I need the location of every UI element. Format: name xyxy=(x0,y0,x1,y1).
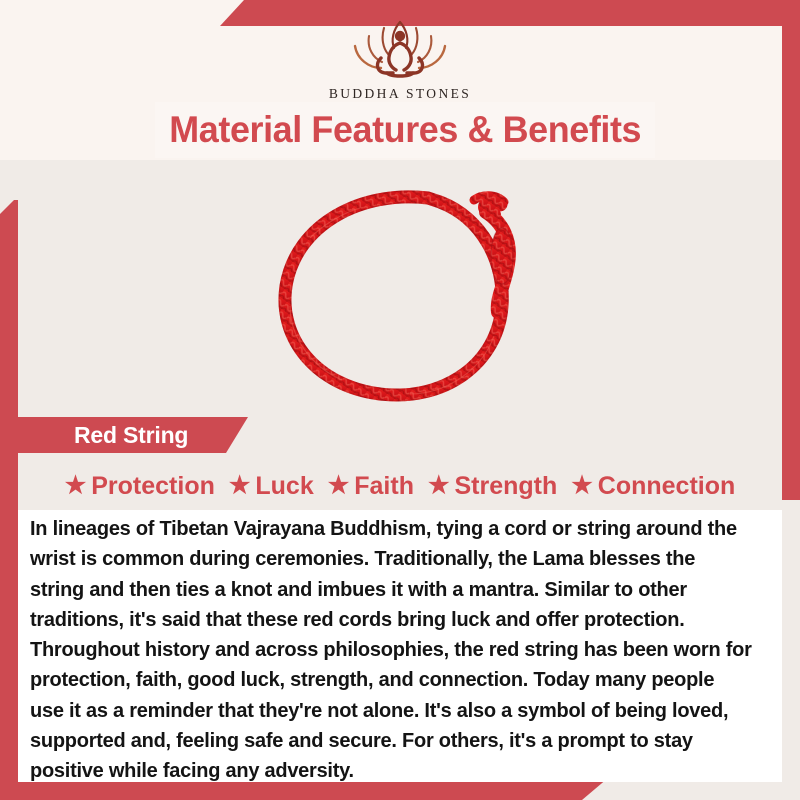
product-image-area xyxy=(18,160,782,422)
benefit-label: Strength xyxy=(454,472,557,501)
benefit-item-faith: ★ Faith xyxy=(323,472,419,501)
benefits-list: ★ Protection ★ Luck ★ Faith ★ Strength ★… xyxy=(18,466,782,506)
star-icon: ★ xyxy=(328,474,350,498)
decor-left-vertical-bar xyxy=(0,200,18,800)
description-card: In lineages of Tibetan Vajrayana Buddhis… xyxy=(18,510,782,782)
red-string-bracelet-icon xyxy=(250,166,550,416)
lotus-meditation-figure-logo-icon xyxy=(325,14,475,84)
benefit-label: Faith xyxy=(354,472,414,501)
star-icon: ★ xyxy=(571,474,593,498)
description-paragraph: In lineages of Tibetan Vajrayana Buddhis… xyxy=(30,514,753,787)
benefit-label: Connection xyxy=(598,472,736,501)
benefit-item-connection: ★ Connection xyxy=(566,472,740,501)
benefit-label: Protection xyxy=(91,472,215,501)
star-icon: ★ xyxy=(229,474,251,498)
infographic-poster: BUDDHA STONES Material Features & Benefi… xyxy=(0,0,800,800)
star-icon: ★ xyxy=(65,474,87,498)
page-title: Material Features & Benefits xyxy=(169,109,641,151)
brand-name: BUDDHA STONES xyxy=(329,86,471,102)
benefit-item-protection: ★ Protection xyxy=(60,472,220,501)
benefit-item-strength: ★ Strength xyxy=(423,472,562,501)
material-name-ribbon: Red String xyxy=(18,417,248,453)
benefit-label: Luck xyxy=(255,472,313,501)
brand-header: BUDDHA STONES xyxy=(0,14,800,102)
star-icon: ★ xyxy=(428,474,450,498)
material-name-label: Red String xyxy=(18,422,188,449)
benefit-item-luck: ★ Luck xyxy=(224,472,319,501)
headline-banner: Material Features & Benefits xyxy=(155,102,655,158)
